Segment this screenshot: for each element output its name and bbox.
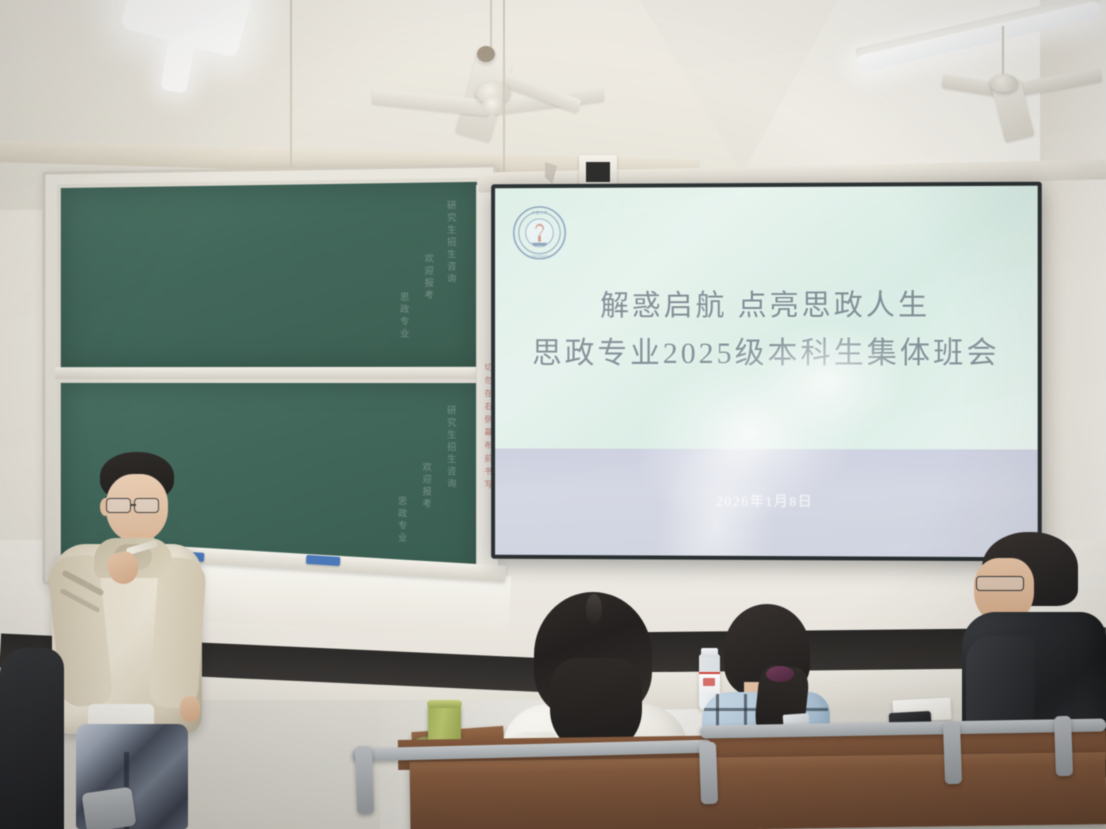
instructor-lowered-hand (180, 696, 200, 722)
bench-row-back (410, 752, 1106, 829)
screen-glare-secondary (754, 320, 904, 440)
student1-hair-part (586, 594, 602, 624)
presentation-display[interactable]: 中 国 大 学 UNIVERSITY 解惑启航 点亮思政人生 思政专业2025级… (491, 182, 1042, 562)
bench-post-2 (699, 742, 718, 805)
svg-text:中 国 大 学: 中 国 大 学 (532, 210, 549, 215)
classroom-photo: 研究生招生咨询 欢迎报考 思政专业 研究生招生咨询 欢迎报考 思政专业 切勿在右… (0, 0, 1106, 829)
bench-post-5 (82, 787, 137, 829)
speaker-grille-icon (586, 162, 610, 182)
university-emblem-icon: 中 国 大 学 UNIVERSITY (512, 205, 567, 261)
blackboard-middle-rail (55, 367, 484, 379)
bench-post-4 (1054, 716, 1073, 777)
hair-scrunchie-icon (766, 666, 794, 682)
eyeglasses-right-lens-icon (134, 498, 159, 513)
chalk-note-6: 思政专业 (396, 496, 409, 565)
student-left-edge (0, 648, 64, 829)
bench-post-1 (355, 746, 374, 815)
slide-surface: 中 国 大 学 UNIVERSITY 解惑启航 点亮思政人生 思政专业2025级… (495, 186, 1038, 558)
chalk-note-5: 欢迎报考 (420, 462, 433, 541)
attendee-eyeglasses-icon (976, 576, 1024, 591)
chalk-note-3: 思政专业 (398, 292, 411, 363)
bench-post-3 (943, 722, 962, 785)
chalk-note-4: 研究生招生咨询 (445, 405, 458, 552)
chalk-note-2: 欢迎报考 (423, 253, 436, 334)
ceiling-fan-right (940, 26, 1106, 136)
tumbler-lid[interactable] (427, 700, 462, 708)
blue-eraser-right-icon[interactable] (306, 555, 340, 566)
blackboard-upper-panel: 研究生招生咨询 欢迎报考 思政专业 (57, 178, 481, 371)
chalk-note-1: 研究生招生咨询 (445, 200, 458, 342)
ceiling-fan-center (420, 0, 650, 140)
svg-text:UNIVERSITY: UNIVERSITY (531, 254, 550, 258)
eyeglasses-bridge-icon (131, 504, 136, 506)
eyeglasses-left-lens-icon (106, 498, 131, 513)
